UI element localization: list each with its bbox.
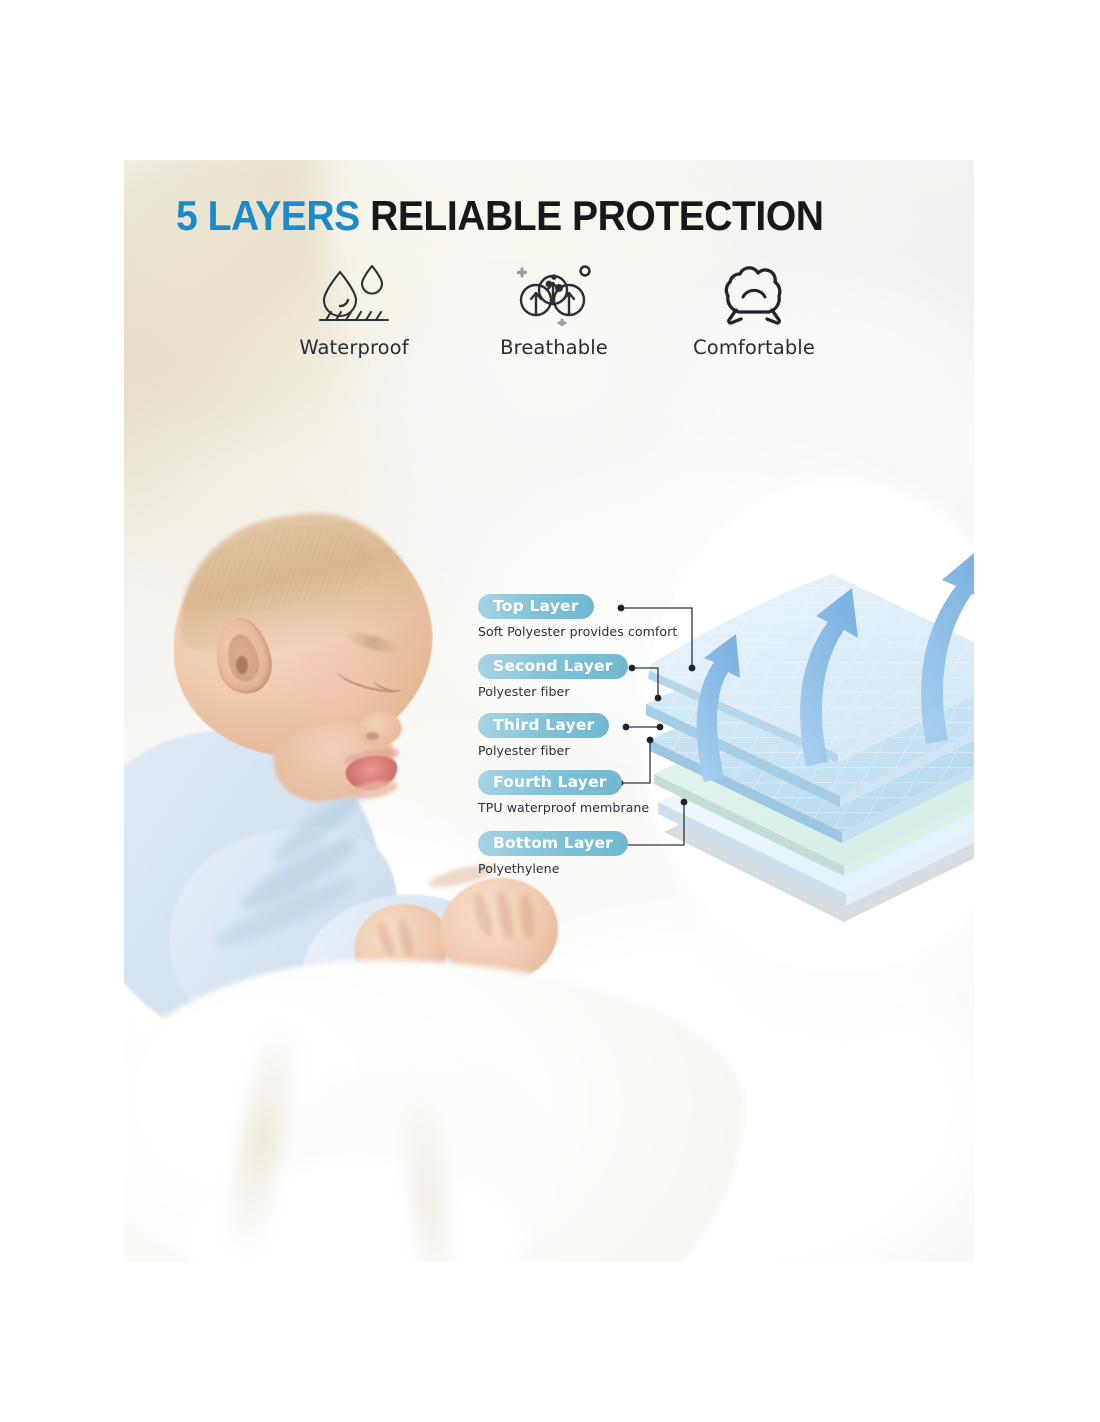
- feature-label: Waterproof: [299, 336, 408, 359]
- baby-nostril: [366, 732, 379, 740]
- feature-label: Breathable: [500, 336, 608, 359]
- layer-description: Polyester fiber: [478, 684, 628, 699]
- callout-second-layer: Second Layer Polyester fiber: [478, 654, 628, 699]
- layer-badge: Second Layer: [478, 654, 628, 679]
- feature-waterproof: Waterproof: [254, 260, 454, 378]
- baby-ear-canal: [236, 656, 248, 674]
- callout-bottom-layer: Bottom Layer Polyethylene: [478, 831, 628, 876]
- callout-fourth-layer: Fourth Layer TPU waterproof membrane: [478, 770, 649, 815]
- layer-badge: Bottom Layer: [478, 831, 628, 856]
- product-infographic-frame: 5 LAYERS RELIABLE PROTECTION Waterproof: [124, 160, 974, 1262]
- layer-badge: Third Layer: [478, 713, 609, 738]
- feature-label: Comfortable: [693, 336, 815, 359]
- feature-comfortable: Comfortable: [654, 260, 854, 378]
- layer-badge: Fourth Layer: [478, 770, 622, 795]
- breathable-cloud-arrows-icon: [509, 260, 599, 326]
- layered-pad-illustration: [644, 482, 974, 972]
- feature-row: Waterproof Breathab: [254, 260, 854, 378]
- page-title: 5 LAYERS RELIABLE PROTECTION: [176, 192, 883, 246]
- water-drop-icon: [312, 260, 396, 326]
- layer-description: Polyester fiber: [478, 743, 609, 758]
- layer-description: Polyethylene: [478, 861, 628, 876]
- layer-badge: Top Layer: [478, 594, 594, 619]
- callout-third-layer: Third Layer Polyester fiber: [478, 713, 609, 758]
- title-rest: RELIABLE PROTECTION: [370, 192, 823, 239]
- layer-description: TPU waterproof membrane: [478, 800, 649, 815]
- layer-description: Soft Polyester provides comfort: [478, 624, 677, 639]
- feature-breathable: Breathable: [454, 260, 654, 378]
- callout-top-layer: Top Layer Soft Polyester provides comfor…: [478, 594, 677, 639]
- cushion-pillow-icon: [714, 260, 794, 326]
- title-highlight: 5 LAYERS: [176, 192, 360, 239]
